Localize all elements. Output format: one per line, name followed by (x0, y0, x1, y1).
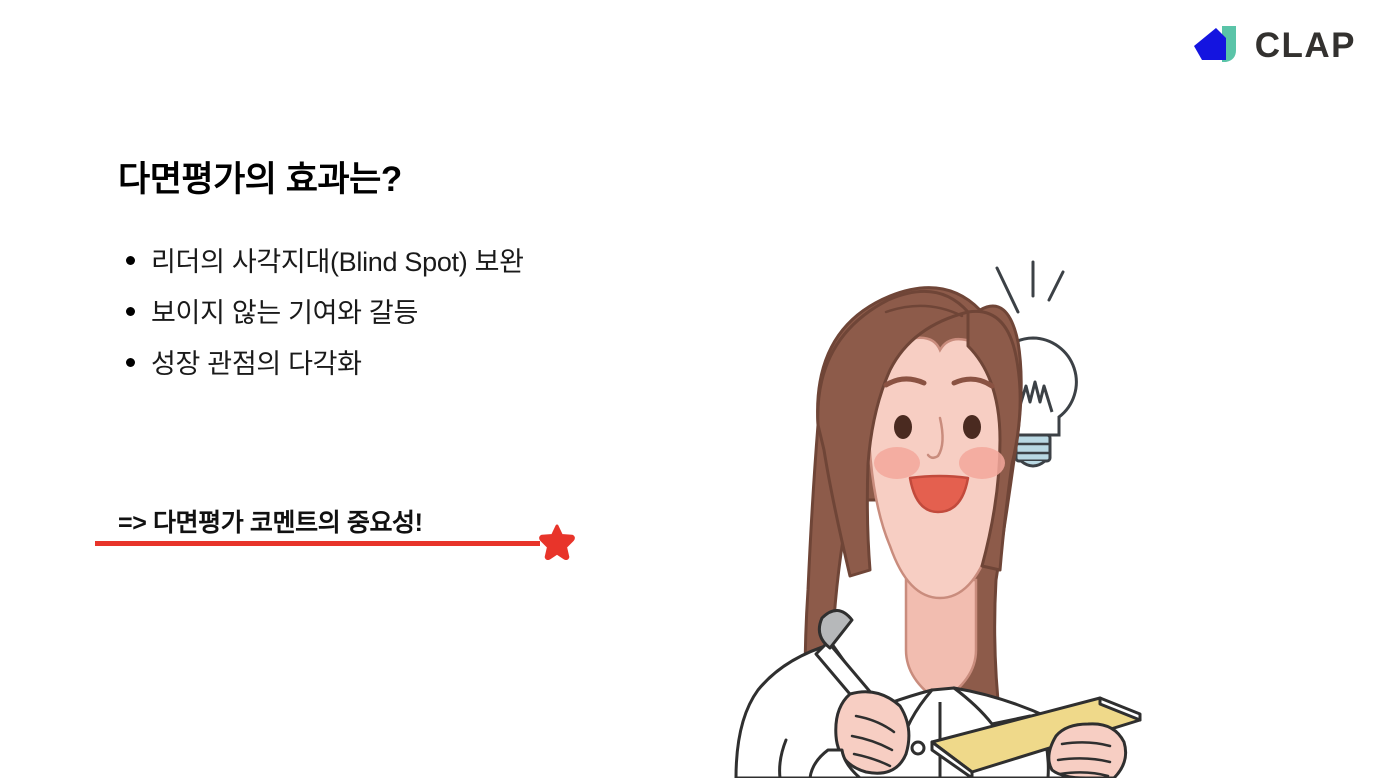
eye-right (963, 415, 981, 439)
bullet-dot-icon (126, 256, 135, 265)
bullet-dot-icon (126, 358, 135, 367)
list-item: 보이지 않는 기여와 갈등 (126, 291, 524, 342)
list-item: 성장 관점의 다각화 (126, 342, 524, 393)
page-title: 다면평가의 효과는? (118, 151, 402, 202)
clap-logo-icon (1192, 24, 1244, 66)
bullet-label: 보이지 않는 기여와 갈등 (151, 291, 418, 330)
brand-name: CLAP (1255, 28, 1356, 63)
bullet-label: 성장 관점의 다각화 (151, 342, 362, 381)
conclusion-underline (95, 541, 540, 546)
right-hand-holding-notebook (1049, 724, 1126, 778)
blush-right (959, 447, 1005, 479)
bullet-list: 리더의 사각지대(Blind Spot) 보완 보이지 않는 기여와 갈등 성장… (126, 240, 524, 393)
star-icon (539, 524, 575, 560)
slide-canvas: CLAP 다면평가의 효과는? 리더의 사각지대(Blind Spot) 보완 … (0, 0, 1392, 778)
idea-rays-icon (997, 262, 1063, 312)
conclusion-text: => 다면평가 코멘트의 중요성! (118, 503, 423, 539)
eye-left (894, 415, 912, 439)
blush-left (874, 447, 920, 479)
bullet-label: 리더의 사각지대(Blind Spot) 보완 (151, 240, 524, 279)
coat-button (912, 742, 924, 754)
bullet-dot-icon (126, 307, 135, 316)
illustration-woman-with-notebook (700, 250, 1180, 778)
list-item: 리더의 사각지대(Blind Spot) 보완 (126, 240, 524, 291)
brand-logo: CLAP (1192, 24, 1356, 66)
